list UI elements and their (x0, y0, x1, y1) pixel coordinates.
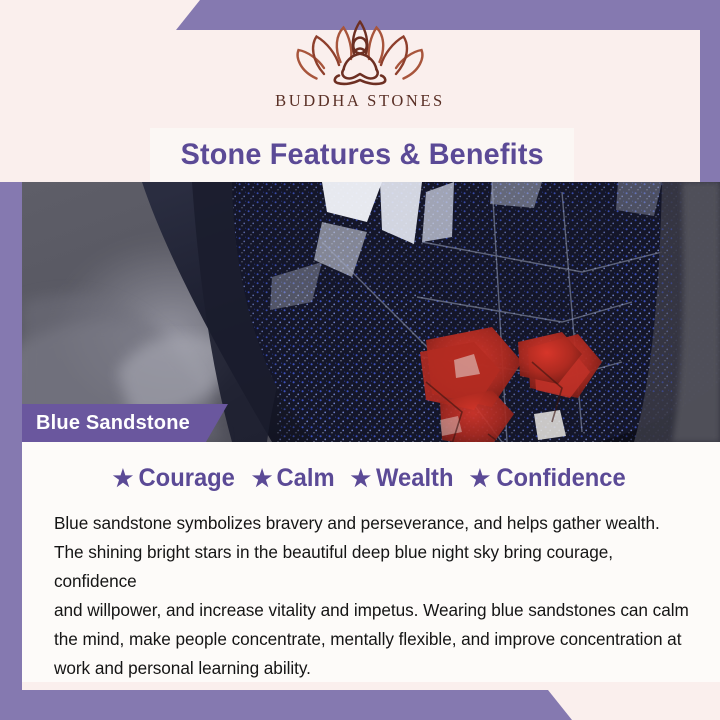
stone-caption: Blue Sandstone (22, 404, 228, 442)
stone-image (22, 182, 720, 442)
star-icon: ★ (470, 467, 491, 490)
benefit-wealth: ★ Wealth (350, 464, 455, 493)
description-text: Blue sandstone symbolizes bravery and pe… (22, 509, 720, 683)
star-icon: ★ (252, 467, 273, 490)
frame-left-band (0, 182, 22, 720)
benefit-label: Confidence (497, 464, 626, 493)
benefit-label: Wealth (376, 464, 453, 493)
description-line-4: the mind, make people concentrate, menta… (54, 625, 692, 654)
description-line-1: Blue sandstone symbolizes bravery and pe… (54, 509, 692, 538)
benefit-courage: ★ Courage (113, 464, 238, 493)
benefits-row: ★ Courage ★ Calm ★ Wealth ★ Confidence (22, 464, 720, 493)
star-icon: ★ (350, 467, 371, 490)
title-banner: Stone Features & Benefits (150, 128, 574, 182)
brand-name: BUDDHA STONES (275, 91, 445, 111)
lotus-meditation-icon (285, 14, 435, 86)
benefit-label: Calm (277, 464, 335, 493)
description-line-2: The shining bright stars in the beautifu… (54, 538, 692, 596)
brand-logo: BUDDHA STONES (0, 14, 720, 111)
star-icon: ★ (113, 467, 134, 490)
benefit-label: Courage (139, 464, 235, 493)
benefit-calm: ★ Calm (252, 464, 337, 493)
stone-caption-text: Blue Sandstone (36, 412, 190, 435)
content-panel: ★ Courage ★ Calm ★ Wealth ★ Confidence B… (22, 442, 720, 682)
product-photo: Blue Sandstone (22, 182, 720, 442)
benefit-confidence: ★ Confidence (470, 464, 630, 493)
description-line-3: and willpower, and increase vitality and… (54, 596, 692, 625)
frame-bottom-band (0, 690, 572, 720)
page-title: Stone Features & Benefits (180, 138, 543, 172)
description-line-5: work and personal learning ability. (54, 654, 692, 683)
